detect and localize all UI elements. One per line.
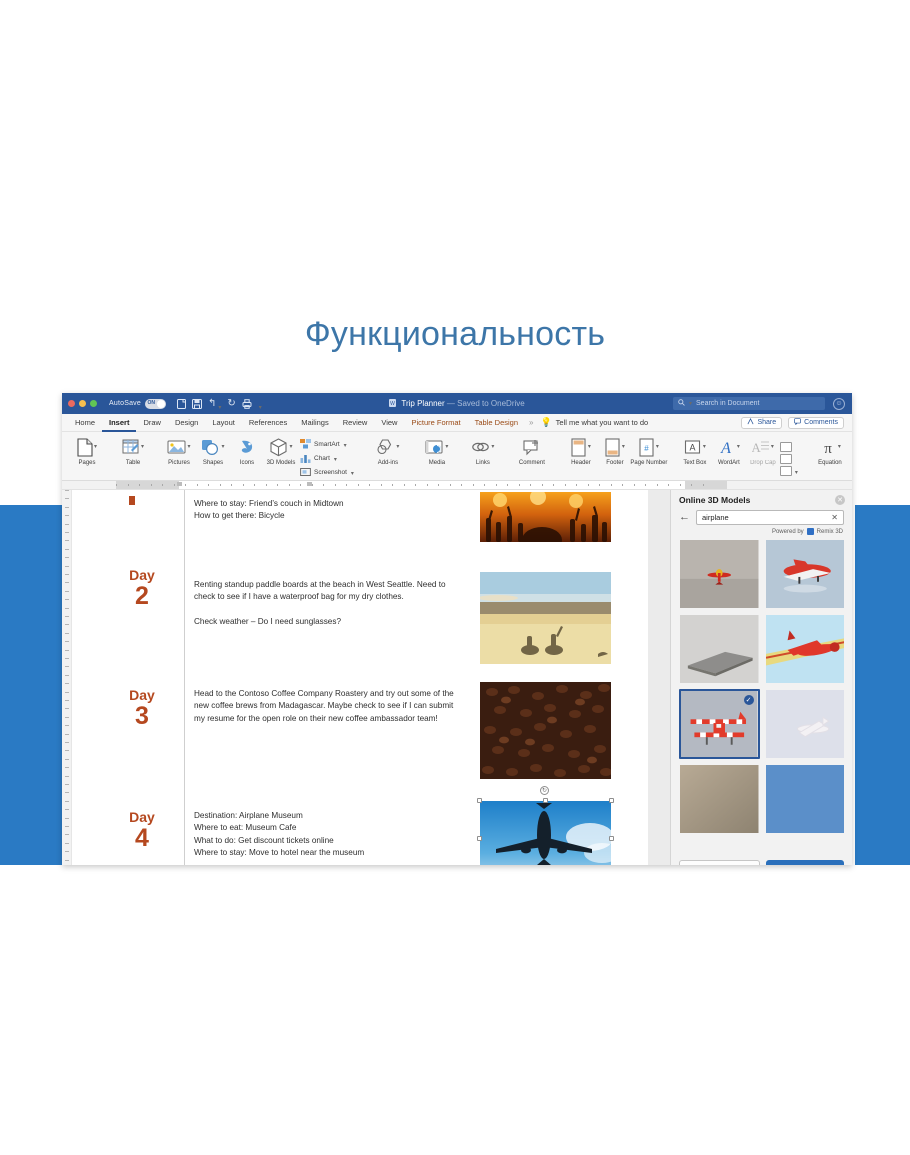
entry-text-2[interactable]: Renting standup paddle boards at the bea…	[194, 579, 462, 628]
model-thumb-gray-flat-model[interactable]	[679, 614, 760, 684]
ribbon-button-shapes[interactable]: ▾ Shapes	[196, 434, 230, 480]
object-caret-icon[interactable]: ▾	[795, 469, 798, 476]
media-icon	[425, 436, 444, 458]
word-application-window: AutoSave ON ↰ ▾ ↻ ▾	[62, 393, 852, 865]
new-document-icon[interactable]	[177, 399, 186, 409]
day-marker-square	[129, 496, 135, 505]
smartart-icon	[300, 439, 311, 450]
lightbulb-icon: 💡	[540, 417, 551, 428]
decorative-band-left	[0, 505, 67, 865]
entry-line: Head to the Contoso Coffee Company Roast…	[194, 688, 462, 725]
word-doc-icon: W	[389, 399, 396, 409]
ribbon-button-page-number[interactable]: # ▾ Page Number	[632, 434, 666, 480]
customize-toolbar-icon[interactable]: ▾	[259, 404, 262, 411]
day-label-2: Day 2	[106, 568, 178, 609]
chart-label: Chart	[314, 455, 330, 462]
slide-canvas: Функциональность AutoSave ON ↰	[0, 0, 910, 1155]
comments-button[interactable]: Comments	[788, 417, 844, 429]
screenshot-icon	[300, 467, 311, 478]
tab-draw[interactable]: Draw	[136, 414, 168, 432]
left-indent-marker[interactable]	[177, 482, 182, 486]
ribbon-group-table: ▾ Table	[112, 434, 154, 480]
entry-text-0[interactable]: Where to stay: Friend’s couch in Midtown…	[194, 498, 462, 523]
day-label-4: Day 4	[106, 810, 178, 851]
task-pane-search-row: ← airplane ✕	[671, 508, 852, 525]
maximize-window-button[interactable]	[90, 400, 97, 407]
smartart-label: SmartArt	[314, 441, 340, 448]
model-thumb-red-white-jet-plane[interactable]	[765, 539, 846, 609]
drop-cap-caret-icon[interactable]: ▾	[771, 443, 774, 450]
remix-brand-text: Remix 3D	[817, 529, 843, 535]
ribbon-group-links: ▾ Links	[462, 434, 504, 480]
ribbon-button-wordart[interactable]: A ▾ WordArt	[712, 434, 746, 480]
ribbon-group-addins: ▾ Add-ins	[364, 434, 412, 480]
resize-handle-w[interactable]	[477, 836, 482, 841]
tab-references[interactable]: References	[242, 414, 294, 432]
undo-caret-icon[interactable]: ▾	[218, 404, 221, 411]
selected-check-icon: ✓	[744, 695, 754, 705]
window-title-bar: AutoSave ON ↰ ▾ ↻ ▾	[62, 393, 852, 414]
cube-icon	[269, 436, 288, 458]
ribbon-button-chart[interactable]: Chart ▾	[300, 452, 354, 465]
equation-label: Equation	[809, 460, 851, 468]
rotate-handle[interactable]: ↻	[540, 786, 549, 795]
svg-text:A: A	[689, 442, 695, 452]
ribbon-group-header-footer: ▾ Header ▾ Footer #	[560, 434, 670, 480]
share-icon	[747, 418, 754, 427]
autosave-state: ON	[147, 400, 155, 406]
text-box-icon: A	[684, 436, 702, 458]
ribbon-button-comment[interactable]: Comment	[512, 434, 552, 480]
ribbon-button-table[interactable]: ▾ Table	[116, 434, 150, 480]
entry-line: Renting standup paddle boards at the bea…	[194, 579, 462, 604]
document-name: Trip Planner	[401, 399, 444, 408]
clear-icon[interactable]: ✕	[831, 513, 838, 522]
quick-access-toolbar: ↰ ▾ ↻ ▾	[177, 397, 262, 411]
shapes-icon	[201, 436, 220, 458]
ribbon-button-3d-models[interactable]: ▾ 3D Models	[264, 434, 298, 480]
smartart-caret-icon[interactable]: ▾	[344, 442, 347, 449]
tab-mailings[interactable]: Mailings	[294, 414, 336, 432]
page-number-icon: #	[639, 436, 655, 458]
ribbon-button-smartart[interactable]: SmartArt ▾	[300, 438, 354, 451]
task-pane-footer: Cancel Insert (1)	[671, 857, 852, 865]
wordart-icon: A	[718, 436, 736, 458]
entry-blank-line	[194, 604, 462, 616]
remix-3d-icon	[807, 528, 814, 535]
redo-icon[interactable]: ↻	[227, 398, 235, 409]
right-indent-marker[interactable]	[307, 482, 312, 486]
quick-parts-icon[interactable]	[780, 442, 792, 452]
close-window-button[interactable]	[68, 400, 75, 407]
document-body: Where to stay: Friend’s couch in Midtown…	[62, 490, 852, 865]
insert-button[interactable]: Insert (1)	[766, 860, 845, 866]
ribbon-group-comment: Comment	[508, 434, 556, 480]
ribbon-button-pages[interactable]: ▾ Pages	[70, 434, 104, 480]
ribbon-button-addins[interactable]: ▾ Add-ins	[368, 434, 408, 480]
ribbon-group-media: ▾ Media	[416, 434, 458, 480]
day-number: 4	[106, 825, 178, 851]
day-word: Day	[106, 568, 178, 583]
model-search-input[interactable]: airplane ✕	[696, 510, 844, 525]
comment-label: Comment	[511, 460, 553, 468]
ribbon-tabs-right: Share Comments	[741, 417, 846, 429]
print-icon[interactable]	[242, 399, 252, 409]
cancel-button[interactable]: Cancel	[679, 860, 760, 866]
ruler-ticks	[116, 484, 727, 487]
screenshot-label: Screenshot	[314, 469, 347, 476]
text-box-caret-icon[interactable]: ▾	[703, 443, 706, 450]
model-thumb-blue-sky-model[interactable]	[765, 764, 846, 834]
minimize-window-button[interactable]	[79, 400, 86, 407]
ribbon-button-advanced-symbol[interactable]: Ω Advanced Symbol	[850, 434, 852, 480]
ribbon-tabs: Home Insert Draw Design Layout Reference…	[62, 414, 852, 432]
task-pane-header: Online 3D Models ✕	[671, 490, 852, 508]
comment-icon	[522, 436, 541, 458]
page-number-label: Page Number	[628, 460, 670, 468]
wordart-caret-icon[interactable]: ▾	[737, 443, 740, 450]
day-number: 3	[106, 703, 178, 729]
resize-handle-n[interactable]	[543, 798, 548, 803]
document-save-status: — Saved to OneDrive	[447, 399, 525, 408]
advanced-symbol-label: Advanced Symbol	[849, 460, 852, 475]
page-number-caret-icon[interactable]: ▾	[656, 443, 659, 450]
models-caret-icon[interactable]: ▾	[289, 443, 292, 450]
entry-line: Check weather – Do I need sunglasses?	[194, 616, 462, 628]
pictures-caret-icon[interactable]: ▾	[187, 443, 190, 450]
object-icon[interactable]	[780, 466, 792, 476]
model-search-value: airplane	[702, 513, 729, 522]
footer-icon	[605, 436, 621, 458]
links-caret-icon[interactable]: ▾	[491, 443, 494, 450]
ribbon-group-illustrations: ▾ Pictures ▾ Shapes	[158, 434, 360, 480]
airplane-photo-selected[interactable]: ↻	[477, 798, 614, 865]
ribbon-button-screenshot[interactable]: Screenshot ▾	[300, 466, 354, 479]
links-icon	[471, 436, 490, 458]
chart-caret-icon[interactable]: ▾	[334, 456, 337, 463]
horizontal-ruler[interactable]	[62, 481, 852, 490]
page-title: Функциональность	[0, 315, 910, 354]
resize-handle-ne[interactable]	[609, 798, 614, 803]
ribbon-button-links[interactable]: ▾ Links	[466, 434, 500, 480]
icons-icon	[238, 436, 256, 458]
media-label: Media	[416, 460, 458, 468]
drop-cap-icon: A	[752, 436, 770, 458]
search-placeholder-text: Search in Document	[696, 400, 759, 407]
drop-cap-label: Drop Cap	[742, 460, 784, 468]
entry-line: How to get there: Bicycle	[194, 510, 462, 522]
autosave-label: AutoSave	[109, 400, 141, 407]
tab-picture-format[interactable]: Picture Format	[404, 414, 467, 432]
beach-photo[interactable]	[480, 572, 611, 669]
addins-caret-icon[interactable]: ▾	[396, 443, 399, 450]
account-avatar[interactable]: ☺	[833, 398, 845, 410]
entry-line: Destination: Airplane Museum	[194, 810, 462, 822]
share-label: Share	[757, 419, 776, 426]
ribbon-group-text: A ▾ Text Box A ▾ WordArt	[674, 434, 802, 480]
day-word: Day	[106, 688, 178, 703]
tab-design[interactable]: Design	[168, 414, 205, 432]
comments-label: Comments	[804, 419, 838, 426]
search-scope-caret-icon[interactable]: ▾	[689, 400, 692, 407]
entry-line: Where to stay: Move to hotel near the mu…	[194, 847, 462, 859]
coffee-beans-photo[interactable]	[480, 682, 611, 784]
ribbon-button-drop-cap[interactable]: A ▾ Drop Cap	[746, 434, 780, 480]
ribbon-button-header[interactable]: ▾ Header	[564, 434, 598, 480]
table-label: Table	[112, 460, 154, 468]
pages-label: Pages	[66, 460, 108, 468]
pages-caret-icon[interactable]: ▾	[94, 443, 97, 450]
ribbon-stack-illustrations: SmartArt ▾ Chart ▾ Screens	[298, 434, 356, 480]
header-icon	[571, 436, 587, 458]
back-arrow-icon[interactable]: ←	[679, 512, 690, 523]
share-button[interactable]: Share	[741, 417, 782, 429]
table-caret-icon[interactable]: ▾	[141, 443, 144, 450]
tab-review[interactable]: Review	[336, 414, 375, 432]
svg-text:π: π	[824, 441, 832, 456]
ribbon-button-footer[interactable]: ▾ Footer	[598, 434, 632, 480]
tell-me-search[interactable]: 💡 Tell me what you want to do	[537, 417, 648, 428]
pictures-icon	[167, 436, 186, 458]
vertical-ruler[interactable]	[62, 490, 72, 865]
svg-text:W: W	[390, 401, 395, 407]
tab-insert[interactable]: Insert	[102, 414, 136, 432]
tell-me-label: Tell me what you want to do	[556, 418, 649, 427]
entry-text-3[interactable]: Head to the Contoso Coffee Company Roast…	[194, 688, 462, 725]
ribbon-button-equation[interactable]: π ▾ Equation	[810, 434, 850, 480]
model-thumb-white-airliner-pale[interactable]	[765, 689, 846, 759]
task-pane-title: Online 3D Models	[679, 495, 750, 505]
shapes-caret-icon[interactable]: ▾	[221, 443, 224, 450]
page-gutter	[648, 490, 670, 865]
pages-icon	[77, 436, 93, 458]
page-divider-rule	[184, 490, 185, 865]
addins-icon	[376, 436, 395, 458]
ribbon-group-pages: ▾ Pages	[66, 434, 108, 480]
resize-handle-nw[interactable]	[477, 798, 482, 803]
equation-caret-icon[interactable]: ▾	[838, 443, 841, 450]
model-thumb-red-plane-runway[interactable]	[765, 614, 846, 684]
ribbon-button-media[interactable]: ▾ Media	[420, 434, 454, 480]
media-caret-icon[interactable]: ▾	[445, 443, 448, 450]
undo-icon[interactable]: ↰	[208, 398, 216, 409]
header-caret-icon[interactable]: ▾	[588, 443, 591, 450]
search-input[interactable]: ▾ Search in Document	[673, 397, 825, 410]
powered-by-text: Powered by	[772, 529, 804, 535]
powered-by-label: Powered by Remix 3D	[671, 525, 852, 535]
ribbon-text-extra-buttons: ▾	[780, 434, 798, 480]
models-label: 3D Models	[260, 460, 302, 468]
links-label: Links	[462, 460, 504, 468]
document-page[interactable]: Where to stay: Friend’s couch in Midtown…	[72, 490, 648, 865]
comment-bubble-icon	[794, 418, 801, 427]
svg-text:#: #	[644, 444, 649, 453]
ribbon-toolbar: ▾ Pages ▾ Table	[62, 432, 852, 481]
ribbon-group-symbols: π ▾ Equation Ω Advanced Symbol	[806, 434, 852, 480]
svg-text:A: A	[720, 440, 731, 456]
resize-handle-e[interactable]	[609, 836, 614, 841]
tab-table-design[interactable]: Table Design	[468, 414, 525, 432]
model-thumb-red-propeller-plane-front[interactable]	[679, 539, 760, 609]
entry-line: Where to eat: Museum Cafe	[194, 822, 462, 834]
tab-layout[interactable]: Layout	[205, 414, 242, 432]
screenshot-caret-icon[interactable]: ▾	[351, 470, 354, 477]
model-thumb-tan-blurred-model[interactable]	[679, 764, 760, 834]
entry-line: Where to stay: Friend’s couch in Midtown	[194, 498, 462, 510]
entry-text-4[interactable]: Destination: Airplane Museum Where to ea…	[194, 810, 462, 860]
window-controls[interactable]	[68, 400, 97, 407]
concert-crowd-photo[interactable]	[480, 492, 611, 547]
autosave-toggle[interactable]: ON	[145, 399, 166, 409]
model-thumb-red-white-striped-biplane[interactable]: ✓	[679, 689, 760, 759]
tab-view[interactable]: View	[374, 414, 404, 432]
day-word: Day	[106, 810, 178, 825]
search-icon	[678, 399, 685, 408]
ribbon-button-pictures[interactable]: ▾ Pictures	[162, 434, 196, 480]
entry-line: What to do: Get discount tickets online	[194, 835, 462, 847]
equation-icon: π	[819, 436, 837, 458]
tab-overflow-icon[interactable]: »	[525, 418, 537, 427]
day-label-3: Day 3	[106, 688, 178, 729]
save-icon[interactable]	[192, 399, 202, 409]
footer-caret-icon[interactable]: ▾	[622, 443, 625, 450]
online-3d-models-pane: Online 3D Models ✕ ← airplane ✕ Powered …	[670, 490, 852, 865]
model-results-grid: ✓	[671, 535, 852, 834]
day-number: 2	[106, 583, 178, 609]
tab-home[interactable]: Home	[68, 414, 102, 432]
ribbon-button-text-box[interactable]: A ▾ Text Box	[678, 434, 712, 480]
ribbon-button-icons[interactable]: Icons	[230, 434, 264, 480]
svg-text:A: A	[752, 440, 761, 455]
close-icon[interactable]: ✕	[835, 495, 845, 505]
decorative-band-right	[855, 505, 910, 865]
table-icon	[122, 436, 140, 458]
addins-label: Add-ins	[367, 460, 409, 468]
